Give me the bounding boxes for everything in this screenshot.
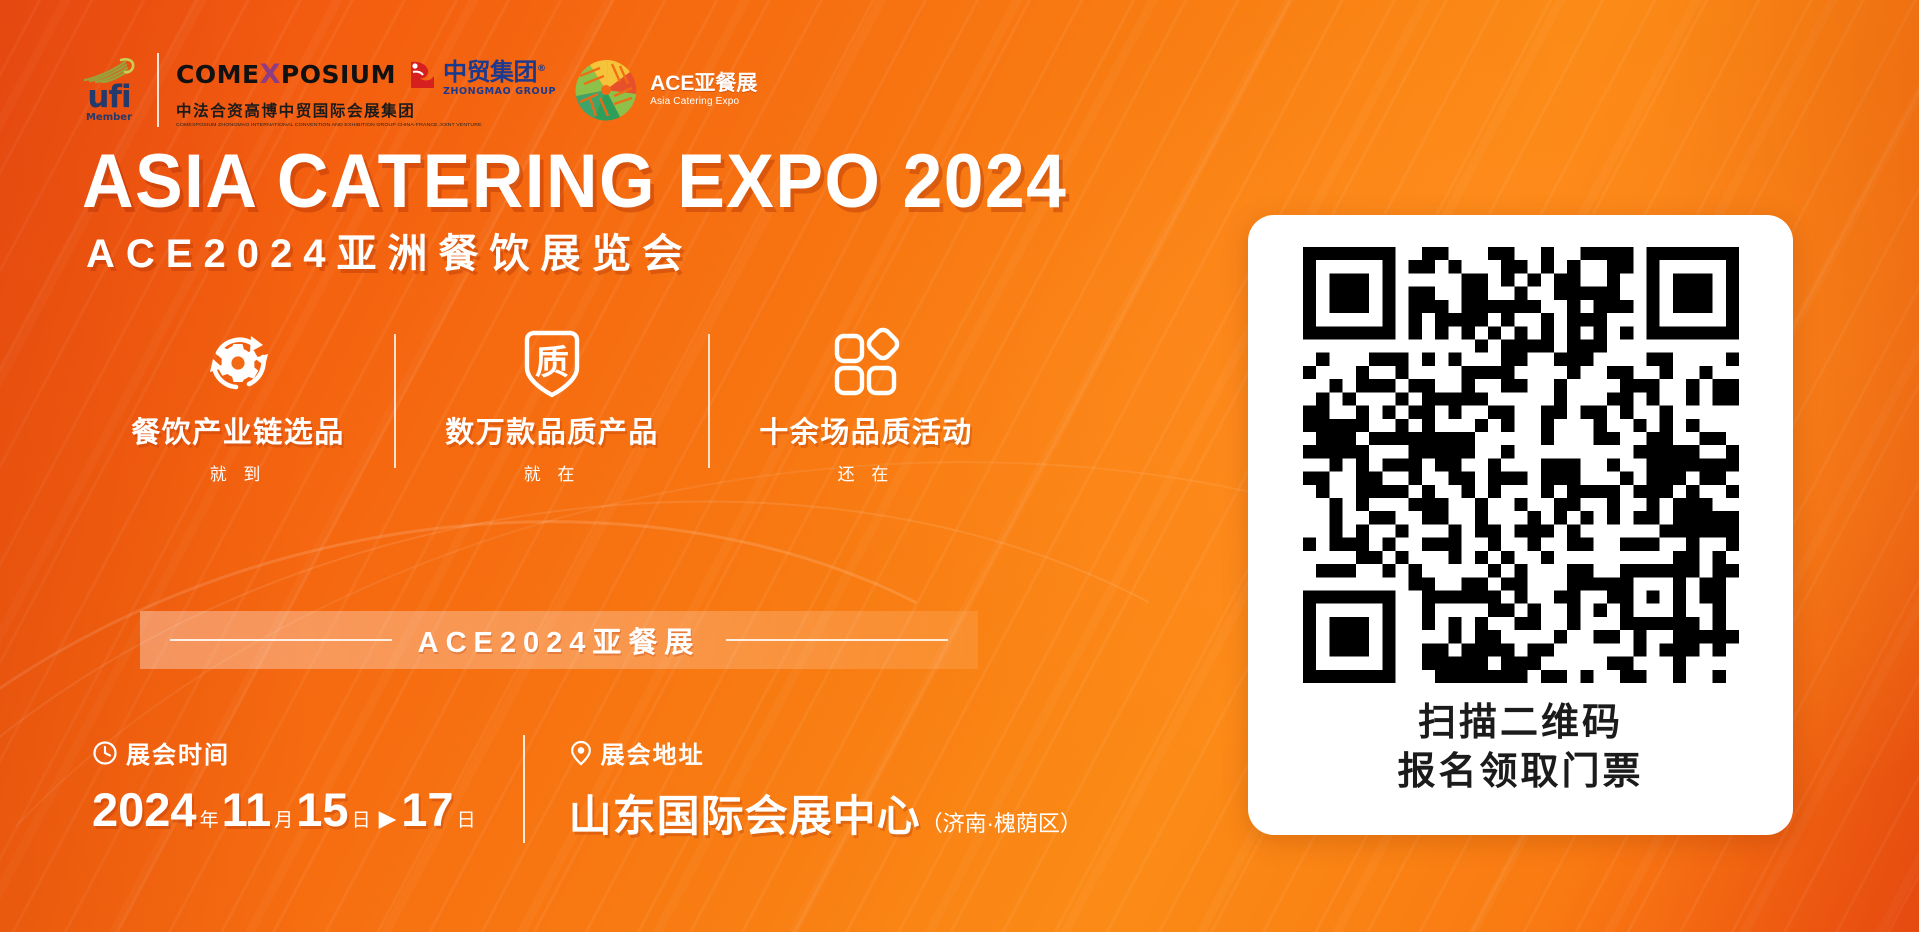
date-range-arrow-icon: ▶ — [374, 805, 402, 832]
feature-subtitle: 还 在 — [838, 460, 895, 485]
zhongmao-logo: 中贸集团® ZHONGMAO GROUP — [405, 52, 556, 97]
feature-title: 餐饮产业链选品 — [131, 409, 345, 451]
page-title-english: ASIA CATERING EXPO 2024 — [82, 144, 1067, 220]
event-ribbon: ACE2024亚餐展 — [140, 611, 978, 669]
comexposium-word-a: COME — [176, 60, 260, 89]
event-date-label-row: 展会时间 — [92, 735, 479, 770]
logo-divider-1 — [157, 53, 159, 127]
ace-logo: ACE亚餐展 Asia Catering Expo — [570, 54, 757, 126]
location-pin-icon — [569, 740, 593, 766]
date-day-end: 17 — [401, 782, 453, 837]
footer-divider — [523, 735, 525, 843]
feature-row: 餐饮产业链选品 就 到 质 数万款品质产品 就 在 — [82, 326, 1022, 486]
event-venue-block: 展会地址 山东国际会展中心 （济南·槐荫区） — [569, 735, 1082, 844]
zhongmao-mark-icon — [405, 58, 439, 92]
event-date-block: 展会时间 2024 年 11 月 15 日 ▶ 17 日 — [92, 735, 479, 837]
ribbon-rule-left — [170, 639, 392, 641]
event-venue-label-row: 展会地址 — [569, 735, 1082, 770]
ace-pinwheel-icon — [570, 54, 642, 126]
feature-item-supply-chain: 餐饮产业链选品 就 到 — [82, 326, 394, 486]
event-venue-label: 展会地址 — [601, 735, 705, 770]
event-date-value: 2024 年 11 月 15 日 ▶ 17 日 — [92, 782, 479, 837]
ribbon-rule-right — [726, 639, 948, 641]
ribbon-text: ACE2024亚餐展 — [418, 619, 701, 661]
comexposium-cn-name: 中法合资高博中贸国际会展集团 — [176, 99, 556, 121]
comexposium-word-b: POSIUM — [281, 60, 396, 89]
qr-cta-line-2: 报名领取门票 — [1397, 748, 1643, 797]
zhongmao-wordmark-cn: 中贸集团® — [443, 52, 556, 87]
qr-code-icon[interactable] — [1303, 247, 1739, 683]
event-date-label: 展会时间 — [126, 735, 230, 770]
registered-mark: ® — [537, 64, 546, 74]
comexposium-en-fullname: COMEXPOSIUM ZHONGMAO INTERNATIONAL CONVE… — [176, 122, 556, 127]
date-year-unit: 年 — [197, 805, 222, 832]
feature-subtitle: 就 到 — [210, 460, 267, 485]
date-day-unit-2: 日 — [454, 805, 479, 832]
logo-bar: ufi Member COME X POSIUM — [78, 44, 757, 136]
event-info-bar: 展会时间 2024 年 11 月 15 日 ▶ 17 日 展会地址 — [92, 735, 1082, 844]
activity-grid-icon — [829, 326, 903, 400]
zhongmao-cn-text: 中贸集团 — [443, 58, 537, 86]
zhongmao-wordmark-en: ZHONGMAO GROUP — [443, 86, 556, 97]
comexposium-logo-block: COME X POSIUM 中贸集团® ZHONGMAO GROUP — [176, 52, 556, 128]
feature-item-quality-products: 质 数万款品质产品 就 在 — [396, 326, 708, 486]
clock-icon — [92, 740, 118, 766]
date-day-unit-1: 日 — [349, 805, 374, 832]
date-month: 11 — [222, 782, 272, 837]
quality-shield-icon: 质 — [517, 326, 587, 400]
supply-chain-gear-icon — [201, 326, 275, 400]
feature-item-activities: 十余场品质活动 还 在 — [710, 326, 1022, 486]
promo-banner: ufi Member COME X POSIUM — [0, 0, 1919, 932]
comexposium-wordmark: COME X POSIUM — [176, 59, 396, 90]
feature-title: 十余场品质活动 — [759, 409, 973, 451]
ace-logo-text: ACE亚餐展 Asia Catering Expo — [650, 73, 757, 106]
ufi-member-logo: ufi Member — [78, 57, 140, 123]
venue-district: （济南·槐荫区） — [921, 806, 1082, 838]
qr-registration-card[interactable]: 扫描二维码 报名领取门票 — [1248, 215, 1793, 835]
comexposium-x-glyph: X — [260, 59, 281, 90]
ufi-logo-member: Member — [86, 112, 132, 123]
date-day-start: 15 — [296, 782, 348, 837]
qr-cta-line-1: 扫描二维码 — [1397, 699, 1643, 748]
ace-logo-en: Asia Catering Expo — [650, 96, 757, 107]
date-year: 2024 — [92, 782, 197, 837]
page-title-chinese: ACE2024亚洲餐饮展览会 — [86, 230, 693, 278]
ufi-logo-word: ufi — [87, 83, 130, 112]
event-venue-value: 山东国际会展中心 （济南·槐荫区） — [569, 782, 1082, 844]
ufi-wing-icon — [81, 57, 137, 83]
date-month-unit: 月 — [271, 805, 296, 832]
qr-cta-text: 扫描二维码 报名领取门票 — [1397, 699, 1643, 798]
feature-title: 数万款品质产品 — [445, 409, 659, 451]
feature-subtitle: 就 在 — [524, 460, 581, 485]
ace-logo-cn: ACE亚餐展 — [650, 73, 757, 95]
quality-shield-glyph: 质 — [535, 343, 569, 383]
venue-name: 山东国际会展中心 — [569, 782, 921, 844]
